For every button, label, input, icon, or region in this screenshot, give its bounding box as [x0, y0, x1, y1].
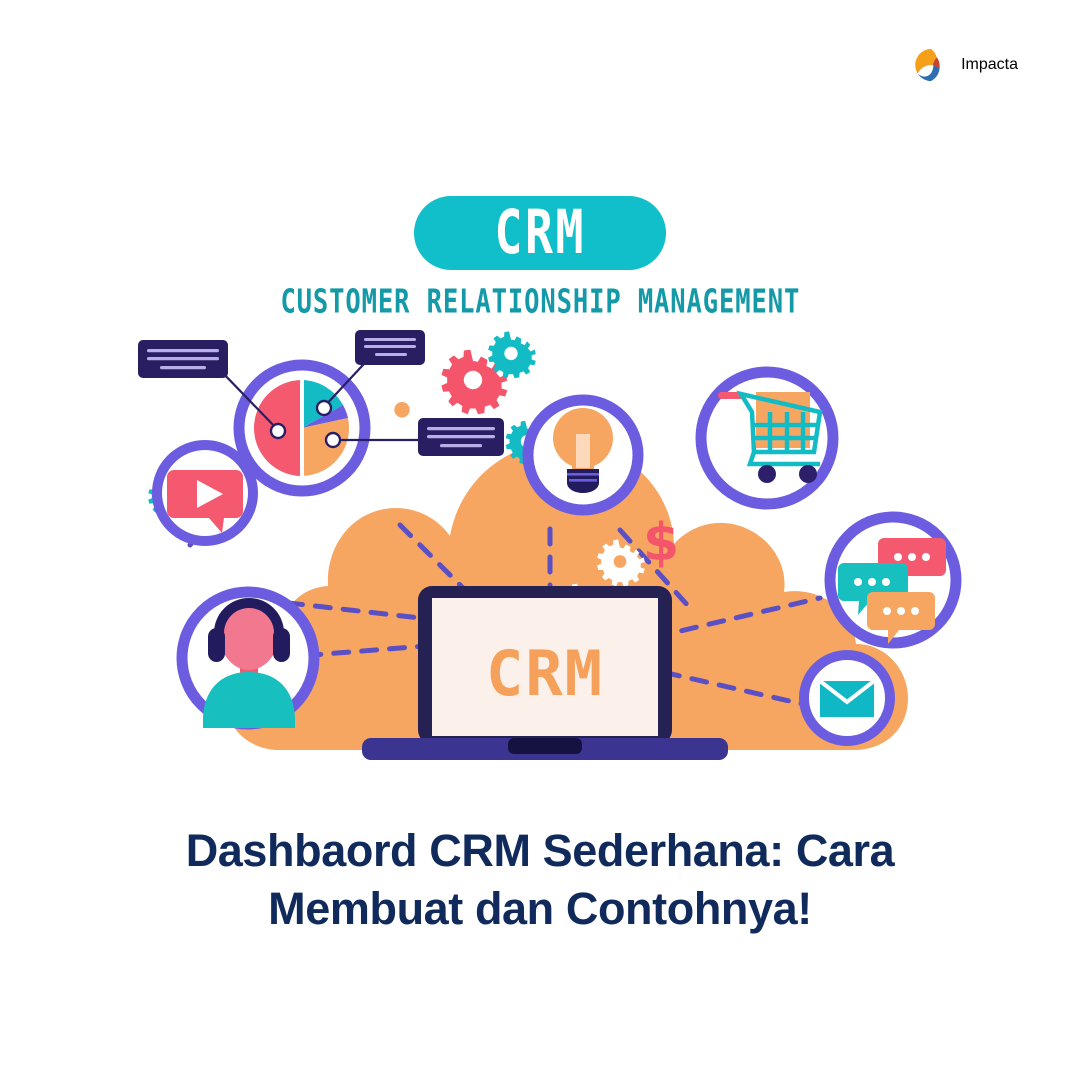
- dollar-sign-icon-pink: $: [643, 513, 679, 573]
- callout-left: [138, 340, 228, 378]
- node-lightbulb[interactable]: [528, 400, 638, 510]
- callout-top: [355, 330, 425, 365]
- node-chat-bubbles[interactable]: [830, 517, 956, 644]
- crm-badge: CRM: [414, 196, 666, 270]
- callout-right: [418, 418, 504, 456]
- node-video[interactable]: [157, 445, 253, 541]
- node-shopping-cart[interactable]: [701, 372, 833, 504]
- crm-illustration-svg: $ $ CRM: [130, 330, 970, 780]
- crm-badge-label: CRM: [494, 203, 586, 263]
- brand-name: Impacta: [961, 56, 1018, 74]
- page-title-line-1: Dashbaord CRM Sederhana: Cara: [90, 822, 990, 880]
- envelope-mail-icon: [820, 681, 874, 717]
- crm-heading-block: CRM CUSTOMER RELATIONSHIP MANAGEMENT: [0, 196, 1080, 318]
- node-email[interactable]: [804, 655, 890, 741]
- laptop-screen-label: CRM: [486, 637, 604, 710]
- brand-logo: Impacta: [912, 46, 1018, 84]
- node-support-agent[interactable]: [182, 592, 314, 728]
- crm-illustration: $ $ CRM: [130, 330, 970, 780]
- crm-subtitle: CUSTOMER RELATIONSHIP MANAGEMENT: [280, 281, 800, 320]
- page-title-line-2: Membuat dan Contohnya!: [90, 880, 990, 938]
- impacta-swirl-logo-icon: [912, 46, 950, 84]
- page-title: Dashbaord CRM Sederhana: Cara Membuat da…: [90, 822, 990, 937]
